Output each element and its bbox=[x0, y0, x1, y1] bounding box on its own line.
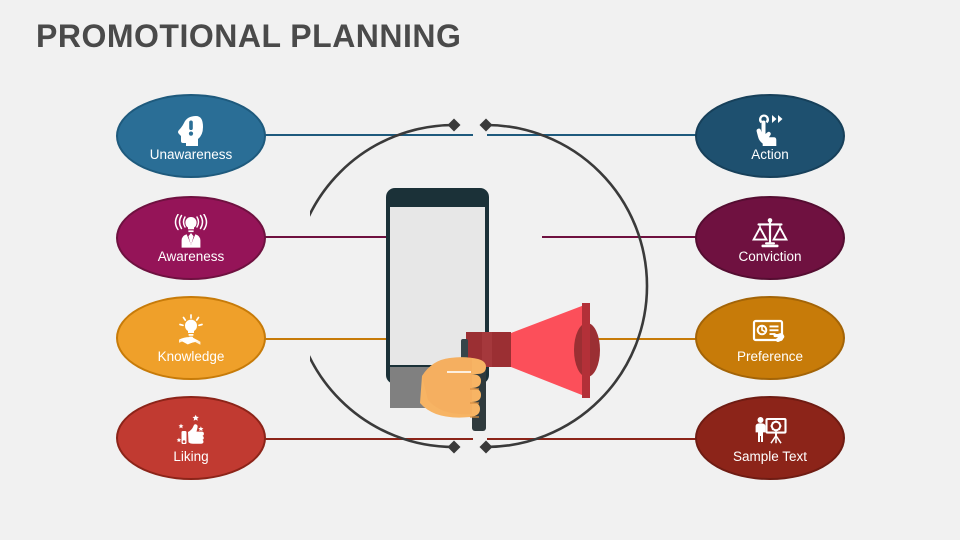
head-exclamation-icon bbox=[172, 110, 210, 146]
center-illustration bbox=[310, 100, 650, 472]
node-label: Preference bbox=[737, 349, 803, 364]
node-unawareness[interactable]: Unawareness bbox=[116, 94, 266, 178]
survey-checklist-icon bbox=[751, 312, 789, 348]
node-sample-text[interactable]: Sample Text bbox=[695, 396, 845, 480]
node-liking[interactable]: Liking bbox=[116, 396, 266, 480]
slide-canvas: PROMOTIONAL PLANNING bbox=[0, 0, 960, 540]
node-preference[interactable]: Preference bbox=[695, 296, 845, 380]
person-broadcast-bulb-icon bbox=[172, 212, 210, 248]
node-label: Conviction bbox=[738, 249, 801, 264]
thumbs-up-stars-icon bbox=[172, 412, 210, 448]
node-action[interactable]: Action bbox=[695, 94, 845, 178]
node-label: Awareness bbox=[158, 249, 225, 264]
node-awareness[interactable]: Awareness bbox=[116, 196, 266, 280]
hand-megaphone-graphic bbox=[310, 100, 650, 472]
scales-justice-icon bbox=[751, 212, 789, 248]
node-label: Unawareness bbox=[150, 147, 233, 162]
page-title: PROMOTIONAL PLANNING bbox=[36, 18, 461, 55]
node-label: Knowledge bbox=[158, 349, 225, 364]
bulb-book-icon bbox=[172, 312, 210, 348]
tap-hand-icon bbox=[751, 110, 789, 146]
node-label: Liking bbox=[173, 449, 208, 464]
node-label: Action bbox=[751, 147, 789, 162]
node-conviction[interactable]: Conviction bbox=[695, 196, 845, 280]
presentation-person-icon bbox=[751, 412, 789, 448]
node-label: Sample Text bbox=[733, 449, 807, 464]
node-knowledge[interactable]: Knowledge bbox=[116, 296, 266, 380]
